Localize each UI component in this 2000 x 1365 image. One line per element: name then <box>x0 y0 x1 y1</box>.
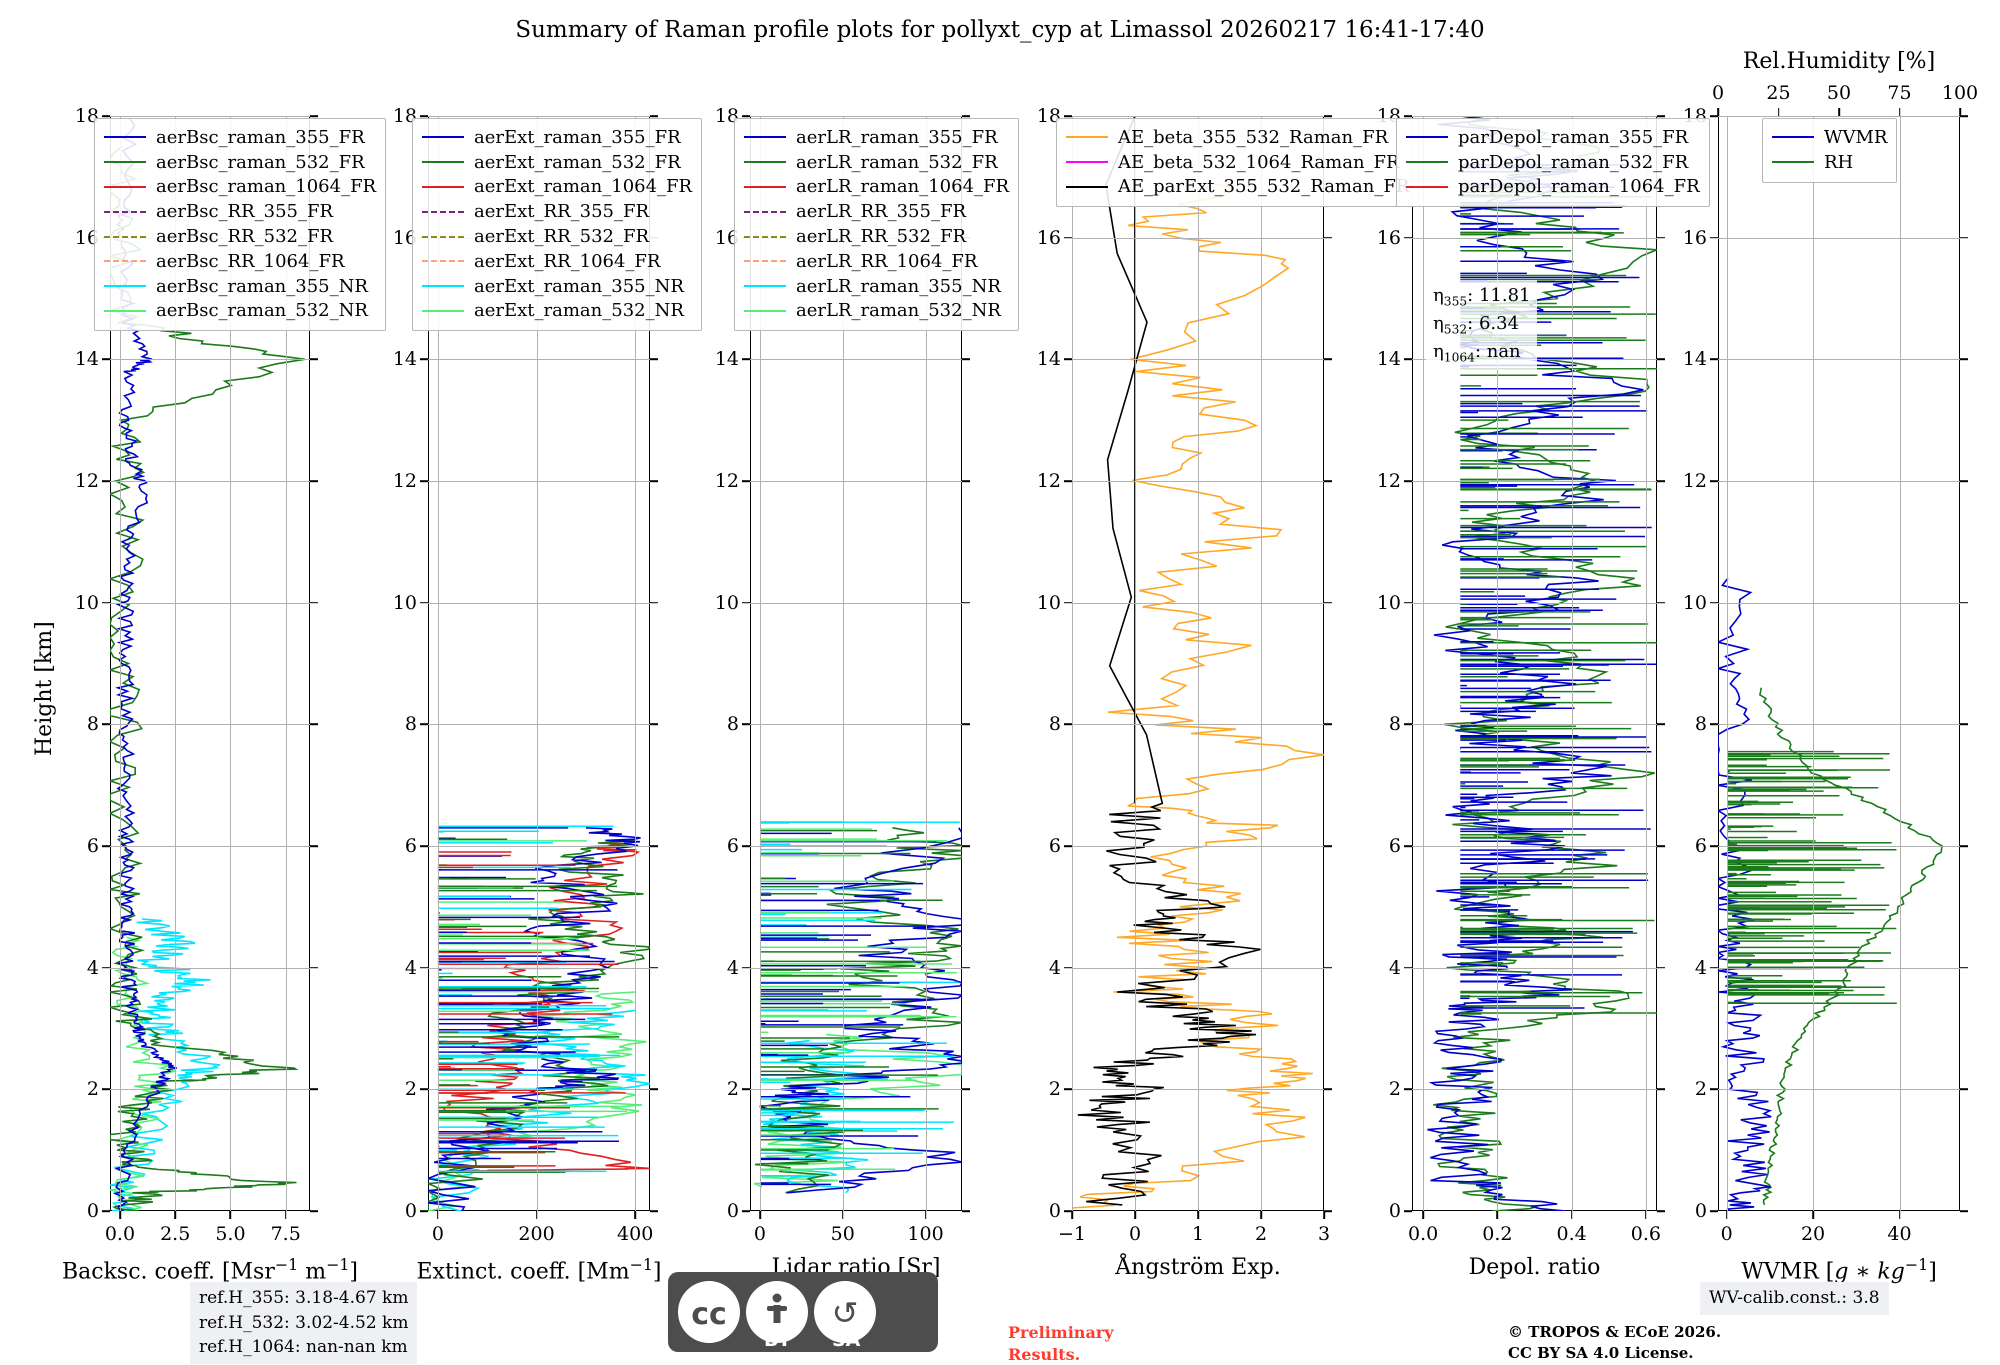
ytick-label: 12 <box>715 470 739 492</box>
legend-color-swatch <box>744 161 786 163</box>
gridline-horizontal <box>110 481 310 482</box>
xtick-label: 0 <box>1129 1223 1141 1245</box>
ytick-mark <box>1710 237 1718 239</box>
gridline-horizontal <box>428 968 650 969</box>
ytick-mark <box>1657 115 1665 117</box>
ytick-label: 2 <box>87 1078 99 1100</box>
xtick-label: 5.0 <box>215 1223 245 1245</box>
legend-item[interactable]: AE_parExt_355_532_Raman_FR <box>1066 175 1409 200</box>
ytick-label: 6 <box>1049 835 1061 857</box>
legend-color-swatch <box>744 310 786 312</box>
legend-item[interactable]: aerLR_raman_1064_FR <box>744 175 1009 200</box>
gridline-horizontal <box>1412 603 1657 604</box>
ytick-label: 14 <box>75 348 99 370</box>
gridline-horizontal <box>1412 724 1657 725</box>
ytick-mark <box>650 115 658 117</box>
gridline-horizontal <box>1718 359 1960 360</box>
xtick-mark <box>536 1211 538 1219</box>
ytick-mark <box>420 602 428 604</box>
rh-tick-label: 50 <box>1827 82 1851 104</box>
ytick-label: 6 <box>87 835 99 857</box>
legend-label: aerBsc_raman_355_FR <box>156 127 365 148</box>
cc-label-by: BY <box>764 1329 791 1351</box>
gridline-horizontal <box>110 603 310 604</box>
gridline-horizontal <box>1718 968 1960 969</box>
legend-label: parDepol_raman_532_FR <box>1458 152 1688 173</box>
xtick-label: 0.6 <box>1631 1223 1661 1245</box>
ytick-label: 0 <box>87 1200 99 1222</box>
rh-tick-mark <box>1717 108 1719 116</box>
ytick-mark <box>102 967 110 969</box>
legend-item[interactable]: aerBsc_raman_532_NR <box>104 299 376 324</box>
gridline-vertical <box>1646 116 1647 1211</box>
ytick-mark <box>650 359 658 361</box>
ytick-mark <box>1657 1210 1665 1212</box>
legend-item[interactable]: aerBsc_raman_355_NR <box>104 274 376 299</box>
legend-color-swatch <box>104 310 146 312</box>
figure-root: Summary of Raman profile plots for polly… <box>0 0 2000 1360</box>
legend-color-swatch <box>1066 186 1108 188</box>
svg-text:cc: cc <box>691 1297 727 1332</box>
ytick-mark <box>102 602 110 604</box>
ytick-mark <box>1960 967 1968 969</box>
legend-color-swatch <box>1772 161 1814 163</box>
xtick-label: 200 <box>518 1223 554 1245</box>
ytick-mark <box>1064 237 1072 239</box>
ytick-label: 14 <box>715 348 739 370</box>
legend-label: aerExt_raman_532_NR <box>474 300 684 321</box>
ytick-mark <box>102 480 110 482</box>
ytick-mark <box>1657 967 1665 969</box>
ytick-mark <box>1064 602 1072 604</box>
legend-color-swatch <box>1406 161 1448 163</box>
legend-item[interactable]: aerExt_RR_1064_FR <box>422 249 692 274</box>
ytick-mark <box>1404 602 1412 604</box>
legend-label: aerBsc_RR_1064_FR <box>156 251 345 272</box>
xtick-mark <box>925 1211 927 1219</box>
ytick-mark <box>1710 1089 1718 1091</box>
xtick-label: 3 <box>1318 1223 1330 1245</box>
legend-label: aerExt_raman_355_NR <box>474 276 684 297</box>
legend-item[interactable]: aerExt_RR_355_FR <box>422 199 692 224</box>
ytick-mark <box>102 1210 110 1212</box>
ytick-mark <box>310 967 318 969</box>
ytick-label: 10 <box>1683 592 1707 614</box>
gridline-horizontal <box>428 603 650 604</box>
rh-tick-label: 100 <box>1942 82 1978 104</box>
legend-color-swatch <box>422 260 464 262</box>
ytick-label: 8 <box>87 713 99 735</box>
gridline-vertical <box>1072 116 1073 1211</box>
ytick-mark <box>1960 115 1968 117</box>
legend-item[interactable]: aerLR_raman_532_FR <box>744 150 1009 175</box>
xtick-mark <box>1497 1211 1499 1219</box>
legend-item[interactable]: parDepol_raman_355_FR <box>1406 125 1700 150</box>
plot-area-wvmr-rh <box>1718 116 1960 1211</box>
ytick-label: 12 <box>75 470 99 492</box>
ytick-mark <box>420 115 428 117</box>
ytick-label: 0 <box>405 1200 417 1222</box>
ytick-mark <box>1960 480 1968 482</box>
legend-color-swatch <box>422 236 464 238</box>
eta-532-line: η532: 6.34 <box>1433 311 1530 339</box>
gridline-horizontal <box>428 1089 650 1090</box>
legend-color-swatch <box>104 211 146 213</box>
legend-color-swatch <box>104 260 146 262</box>
plot-area-angstrom <box>1072 116 1324 1211</box>
legend-item[interactable]: aerExt_raman_355_FR <box>422 125 692 150</box>
legend-lidar-ratio: aerLR_raman_355_FRaerLR_raman_532_FRaerL… <box>734 118 1019 331</box>
legend-color-swatch <box>422 211 464 213</box>
legend-color-swatch <box>422 310 464 312</box>
cc-label-sa: SA <box>832 1329 860 1351</box>
legend-label: WVMR <box>1824 127 1887 148</box>
legend-label: aerBsc_raman_355_NR <box>156 276 368 297</box>
ytick-mark <box>1324 845 1332 847</box>
ytick-label: 4 <box>1389 957 1401 979</box>
ytick-label: 14 <box>1683 348 1707 370</box>
ytick-mark <box>962 359 970 361</box>
legend-label: aerBsc_raman_532_FR <box>156 152 365 173</box>
ytick-mark <box>1324 724 1332 726</box>
ytick-mark <box>1324 359 1332 361</box>
legend-label: AE_parExt_355_532_Raman_FR <box>1118 176 1409 197</box>
ytick-mark <box>1710 480 1718 482</box>
panel-extinction: aerExt_raman_355_FRaerExt_raman_532_FRae… <box>428 116 650 1211</box>
yaxis-title: Height [km] <box>32 621 57 756</box>
legend-item[interactable]: aerExt_raman_532_FR <box>422 150 692 175</box>
legend-color-swatch <box>422 186 464 188</box>
ytick-mark <box>102 724 110 726</box>
xtick-mark <box>174 1211 176 1219</box>
legend-item[interactable]: aerExt_raman_355_NR <box>422 274 692 299</box>
legend-label: aerExt_RR_1064_FR <box>474 251 660 272</box>
legend-item[interactable]: aerExt_RR_532_FR <box>422 224 692 249</box>
ytick-mark <box>102 359 110 361</box>
legend-item[interactable]: aerBsc_RR_532_FR <box>104 224 376 249</box>
ytick-label: 0 <box>1049 1200 1061 1222</box>
legend-item[interactable]: RH <box>1772 150 1887 175</box>
ytick-mark <box>1404 359 1412 361</box>
rh-tick-mark <box>1899 108 1901 116</box>
legend-item[interactable]: parDepol_raman_532_FR <box>1406 150 1700 175</box>
xtick-label: 100 <box>907 1223 943 1245</box>
gridline-horizontal <box>1718 238 1960 239</box>
ytick-mark <box>1657 480 1665 482</box>
ytick-label: 4 <box>87 957 99 979</box>
legend-label: RH <box>1824 152 1853 173</box>
legend-color-swatch <box>744 136 786 138</box>
gridline-horizontal <box>1718 1089 1960 1090</box>
gridline-vertical <box>1135 116 1136 1211</box>
legend-item[interactable]: aerLR_raman_532_NR <box>744 299 1009 324</box>
ytick-mark <box>962 1210 970 1212</box>
gridline-horizontal <box>110 359 310 360</box>
gridline-vertical <box>1900 116 1901 1211</box>
svg-text:↺: ↺ <box>832 1294 859 1332</box>
ytick-mark <box>650 724 658 726</box>
cc-license-badge[interactable]: cc ↺ BY SA <box>668 1272 938 1352</box>
reference-heights-note: ref.H_355: 3.18-4.67 km ref.H_532: 3.02-… <box>190 1282 417 1364</box>
ytick-mark <box>1960 359 1968 361</box>
xtick-label: 20 <box>1801 1223 1825 1245</box>
ytick-label: 2 <box>405 1078 417 1100</box>
ytick-mark <box>962 724 970 726</box>
legend-item[interactable]: aerLR_raman_355_NR <box>744 274 1009 299</box>
ytick-label: 16 <box>1037 227 1061 249</box>
ytick-mark <box>1324 602 1332 604</box>
credit-note: © TROPOS & ECoE 2026. CC BY SA 4.0 Licen… <box>1508 1322 1721 1364</box>
ytick-mark <box>310 480 318 482</box>
gridline-horizontal <box>750 359 962 360</box>
legend-color-swatch <box>1066 136 1108 138</box>
panel-depol-ratio: parDepol_raman_355_FRparDepol_raman_532_… <box>1412 116 1657 1211</box>
ytick-mark <box>650 845 658 847</box>
legend-label: parDepol_raman_1064_FR <box>1458 176 1700 197</box>
legend-label: aerExt_raman_532_FR <box>474 152 681 173</box>
legend-item[interactable]: WVMR <box>1772 125 1887 150</box>
legend-item[interactable]: aerLR_RR_1064_FR <box>744 249 1009 274</box>
rh-tick-label: 75 <box>1887 82 1911 104</box>
xtick-mark <box>1134 1211 1136 1219</box>
ytick-label: 0 <box>727 1200 739 1222</box>
legend-item[interactable]: aerExt_raman_532_NR <box>422 299 692 324</box>
ytick-mark <box>1710 1210 1718 1212</box>
legend-item[interactable]: aerBsc_raman_355_FR <box>104 125 376 150</box>
ytick-mark <box>1064 1089 1072 1091</box>
ytick-mark <box>650 1210 658 1212</box>
legend-item[interactable]: aerLR_RR_355_FR <box>744 199 1009 224</box>
legend-label: aerBsc_raman_532_NR <box>156 300 368 321</box>
legend-item[interactable]: AE_beta_355_532_Raman_FR <box>1066 125 1409 150</box>
ytick-mark <box>962 602 970 604</box>
xtick-mark <box>1812 1211 1814 1219</box>
ytick-mark <box>742 602 750 604</box>
ytick-mark <box>962 480 970 482</box>
rh-tick-label: 0 <box>1712 82 1724 104</box>
ytick-label: 10 <box>75 592 99 614</box>
gridline-horizontal <box>1718 116 1960 117</box>
legend-item[interactable]: aerLR_RR_532_FR <box>744 224 1009 249</box>
gridline-horizontal <box>750 724 962 725</box>
gridline-horizontal <box>1412 968 1657 969</box>
legend-label: aerLR_raman_532_NR <box>796 300 1001 321</box>
ytick-label: 16 <box>1683 227 1707 249</box>
ytick-mark <box>420 724 428 726</box>
legend-label: aerBsc_RR_532_FR <box>156 226 333 247</box>
gridline-horizontal <box>750 846 962 847</box>
ytick-label: 10 <box>1377 592 1401 614</box>
legend-color-swatch <box>744 211 786 213</box>
legend-label: AE_beta_355_532_Raman_FR <box>1118 127 1388 148</box>
ytick-mark <box>742 967 750 969</box>
panel-lidar-ratio: aerLR_raman_355_FRaerLR_raman_532_FRaerL… <box>750 116 962 1211</box>
xtick-mark <box>230 1211 232 1219</box>
xtick-label: 0 <box>754 1223 766 1245</box>
ytick-mark <box>310 845 318 847</box>
ytick-mark <box>650 480 658 482</box>
ytick-label: 6 <box>727 835 739 857</box>
xtick-label: 2.5 <box>160 1223 190 1245</box>
xtick-label: 0.0 <box>105 1223 135 1245</box>
gridline-vertical <box>1813 116 1814 1211</box>
gridline-horizontal <box>428 724 650 725</box>
legend-label: aerBsc_RR_355_FR <box>156 201 333 222</box>
legend-item[interactable]: aerBsc_RR_1064_FR <box>104 249 376 274</box>
xaxis-title-wvmr: WVMR [g ∗ kg−1] <box>1741 1255 1937 1284</box>
legend-backscatter: aerBsc_raman_355_FRaerBsc_raman_532_FRae… <box>94 118 386 331</box>
ytick-mark <box>310 602 318 604</box>
panel-angstrom: AE_beta_355_532_Raman_FRAE_beta_532_1064… <box>1072 116 1324 1211</box>
gridline-horizontal <box>1718 846 1960 847</box>
ytick-mark <box>1657 237 1665 239</box>
legend-color-swatch <box>1406 186 1448 188</box>
ytick-mark <box>310 115 318 117</box>
gridline-horizontal <box>1718 603 1960 604</box>
rh-tick-label: 25 <box>1766 82 1790 104</box>
ytick-mark <box>1064 480 1072 482</box>
legend-item[interactable]: AE_beta_532_1064_Raman_FR <box>1066 150 1409 175</box>
ytick-label: 2 <box>1695 1078 1707 1100</box>
xtick-label: 0.2 <box>1482 1223 1512 1245</box>
ytick-label: 2 <box>727 1078 739 1100</box>
ytick-mark <box>1960 237 1968 239</box>
ytick-mark <box>1324 1210 1332 1212</box>
ytick-mark <box>962 967 970 969</box>
ytick-label: 12 <box>1377 470 1401 492</box>
legend-label: aerLR_RR_1064_FR <box>796 251 977 272</box>
ytick-mark <box>102 845 110 847</box>
xtick-mark <box>285 1211 287 1219</box>
ytick-mark <box>1324 480 1332 482</box>
ytick-mark <box>1324 1089 1332 1091</box>
eta-355-line: η355: 11.81 <box>1433 283 1530 311</box>
xtick-mark <box>1899 1211 1901 1219</box>
ytick-label: 8 <box>405 713 417 735</box>
ytick-label: 4 <box>1695 957 1707 979</box>
legend-label: aerLR_raman_355_NR <box>796 276 1001 297</box>
ytick-label: 14 <box>1377 348 1401 370</box>
ytick-mark <box>742 1089 750 1091</box>
xtick-mark <box>842 1211 844 1219</box>
legend-depol-ratio: parDepol_raman_355_FRparDepol_raman_532_… <box>1396 118 1710 207</box>
ytick-label: 12 <box>1037 470 1061 492</box>
xtick-label: 40 <box>1887 1223 1911 1245</box>
rh-tick-mark <box>1778 108 1780 116</box>
ytick-mark <box>1064 967 1072 969</box>
legend-label: aerExt_raman_1064_FR <box>474 176 692 197</box>
ytick-mark <box>742 480 750 482</box>
legend-wvmr-rh: WVMRRH <box>1762 118 1897 183</box>
eta-1064-line: η1064: nan <box>1433 339 1530 367</box>
xtick-mark <box>1323 1211 1325 1219</box>
ytick-label: 4 <box>405 957 417 979</box>
ytick-mark <box>1657 1089 1665 1091</box>
xtick-label: 50 <box>831 1223 855 1245</box>
gridline-vertical <box>1198 116 1199 1211</box>
gridline-horizontal <box>1412 481 1657 482</box>
xtick-label: 7.5 <box>271 1223 301 1245</box>
xtick-mark <box>1071 1211 1073 1219</box>
ytick-mark <box>1960 1210 1968 1212</box>
ytick-label: 14 <box>393 348 417 370</box>
legend-label: aerLR_raman_1064_FR <box>796 176 1009 197</box>
ytick-mark <box>962 115 970 117</box>
ytick-mark <box>1657 724 1665 726</box>
xtick-mark <box>634 1211 636 1219</box>
ytick-label: 10 <box>1037 592 1061 614</box>
legend-item[interactable]: aerExt_raman_1064_FR <box>422 175 692 200</box>
ytick-mark <box>1960 1089 1968 1091</box>
legend-color-swatch <box>1406 136 1448 138</box>
xaxis-title-rh: Rel.Humidity [%] <box>1743 49 1935 74</box>
gridline-horizontal <box>750 481 962 482</box>
ytick-mark <box>1404 237 1412 239</box>
ytick-mark <box>1064 115 1072 117</box>
gridline-vertical <box>1261 116 1262 1211</box>
ytick-mark <box>650 967 658 969</box>
xtick-mark <box>119 1211 121 1219</box>
legend-item[interactable]: aerBsc_raman_1064_FR <box>104 175 376 200</box>
xtick-mark <box>1260 1211 1262 1219</box>
ytick-label: 8 <box>727 713 739 735</box>
wv-calib-note: WV-calib.const.: 3.8 <box>1700 1282 1889 1315</box>
ytick-mark <box>420 1089 428 1091</box>
legend-label: aerLR_RR_532_FR <box>796 226 966 247</box>
ytick-mark <box>1710 967 1718 969</box>
ytick-mark <box>310 1089 318 1091</box>
gridline-horizontal <box>428 116 650 117</box>
ytick-mark <box>650 1089 658 1091</box>
gridline-vertical <box>1572 116 1573 1211</box>
xaxis-title-angstrom: Ångström Exp. <box>1115 1255 1280 1280</box>
xtick-label: 0.0 <box>1408 1223 1438 1245</box>
xtick-label: 1 <box>1192 1223 1204 1245</box>
ytick-label: 8 <box>1695 713 1707 735</box>
ytick-label: 0 <box>1695 1200 1707 1222</box>
legend-item[interactable]: aerBsc_RR_355_FR <box>104 199 376 224</box>
xtick-mark <box>1422 1211 1424 1219</box>
ytick-mark <box>1960 724 1968 726</box>
legend-label: aerLR_RR_355_FR <box>796 201 966 222</box>
xtick-label: 2 <box>1255 1223 1267 1245</box>
xtick-mark <box>759 1211 761 1219</box>
legend-color-swatch <box>104 161 146 163</box>
xtick-mark <box>1645 1211 1647 1219</box>
legend-extinction: aerExt_raman_355_FRaerExt_raman_532_FRae… <box>412 118 702 331</box>
gridline-horizontal <box>110 968 310 969</box>
ytick-mark <box>1657 359 1665 361</box>
ytick-label: 2 <box>1049 1078 1061 1100</box>
ytick-mark <box>1710 359 1718 361</box>
legend-angstrom: AE_beta_355_532_Raman_FRAE_beta_532_1064… <box>1056 118 1419 207</box>
ytick-label: 4 <box>727 957 739 979</box>
xtick-label: 0 <box>1721 1223 1733 1245</box>
ytick-mark <box>962 1089 970 1091</box>
cc-glyphs: cc ↺ <box>668 1272 938 1352</box>
ytick-mark <box>962 845 970 847</box>
legend-item[interactable]: aerBsc_raman_532_FR <box>104 150 376 175</box>
ytick-mark <box>1404 1210 1412 1212</box>
ytick-mark <box>1657 602 1665 604</box>
ytick-mark <box>650 602 658 604</box>
legend-item[interactable]: aerLR_raman_355_FR <box>744 125 1009 150</box>
ytick-mark <box>310 1210 318 1212</box>
legend-color-swatch <box>744 236 786 238</box>
legend-item[interactable]: parDepol_raman_1064_FR <box>1406 175 1700 200</box>
curves-wvmr-rh <box>1718 116 1960 1211</box>
ytick-mark <box>1324 237 1332 239</box>
